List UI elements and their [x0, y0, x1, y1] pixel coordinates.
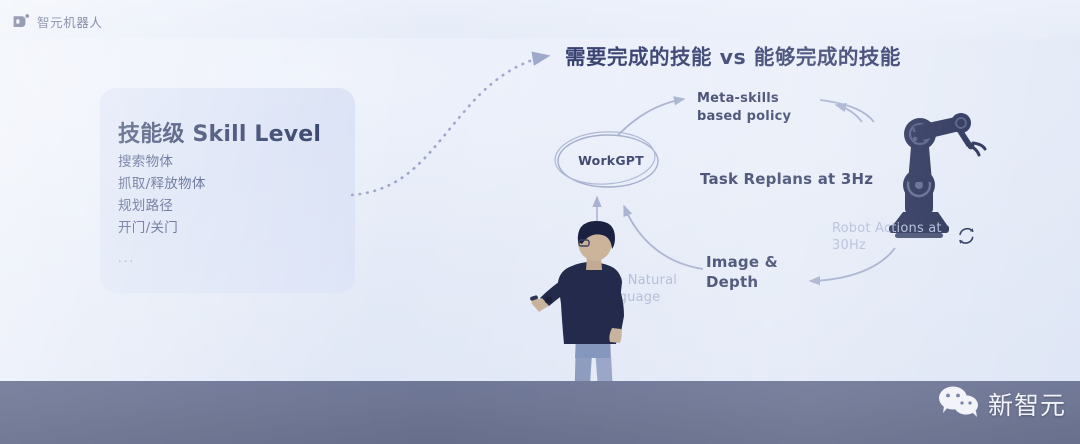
- list-item: 规划路径: [118, 195, 206, 217]
- task-replans-label: Task Replans at 3Hz: [700, 170, 873, 188]
- slide-presentation-photo: 智元机器人 技能级 Skill Level 搜索物体 抓取/释放物体 规划路径 …: [0, 0, 1080, 444]
- list-item: 抓取/释放物体: [118, 173, 206, 195]
- robot-actions-label: Robot Actions at 30Hz: [832, 220, 952, 254]
- meta-skills-label: Meta-skills based policy: [697, 90, 817, 126]
- stage-floor-sheen: [0, 381, 1080, 444]
- skill-card-title: 技能级 Skill Level: [118, 116, 321, 148]
- brand-logo: 智元机器人: [12, 12, 103, 31]
- brand-name: 智元机器人: [37, 12, 103, 31]
- image-depth-label: Image & Depth: [706, 252, 796, 292]
- skill-card-list: 搜索物体 抓取/释放物体 规划路径 开门/关门 ...: [118, 151, 206, 269]
- list-item-ellipsis: ...: [118, 239, 206, 269]
- list-item: 开门/关门: [118, 217, 206, 239]
- screen-top-strip: [0, 0, 1080, 38]
- workgpt-node-label: WorkGPT: [575, 153, 647, 168]
- watermark-text: 新智元: [988, 386, 1066, 422]
- watermark: 新智元: [938, 385, 1066, 422]
- skill-level-card: 技能级 Skill Level 搜索物体 抓取/释放物体 规划路径 开门/关门 …: [100, 88, 355, 293]
- wechat-icon: [938, 385, 980, 422]
- agibot-logo-icon: [12, 13, 30, 30]
- list-item: 搜索物体: [118, 151, 206, 173]
- slide-headline: 需要完成的技能 vs 能够完成的技能: [565, 40, 901, 70]
